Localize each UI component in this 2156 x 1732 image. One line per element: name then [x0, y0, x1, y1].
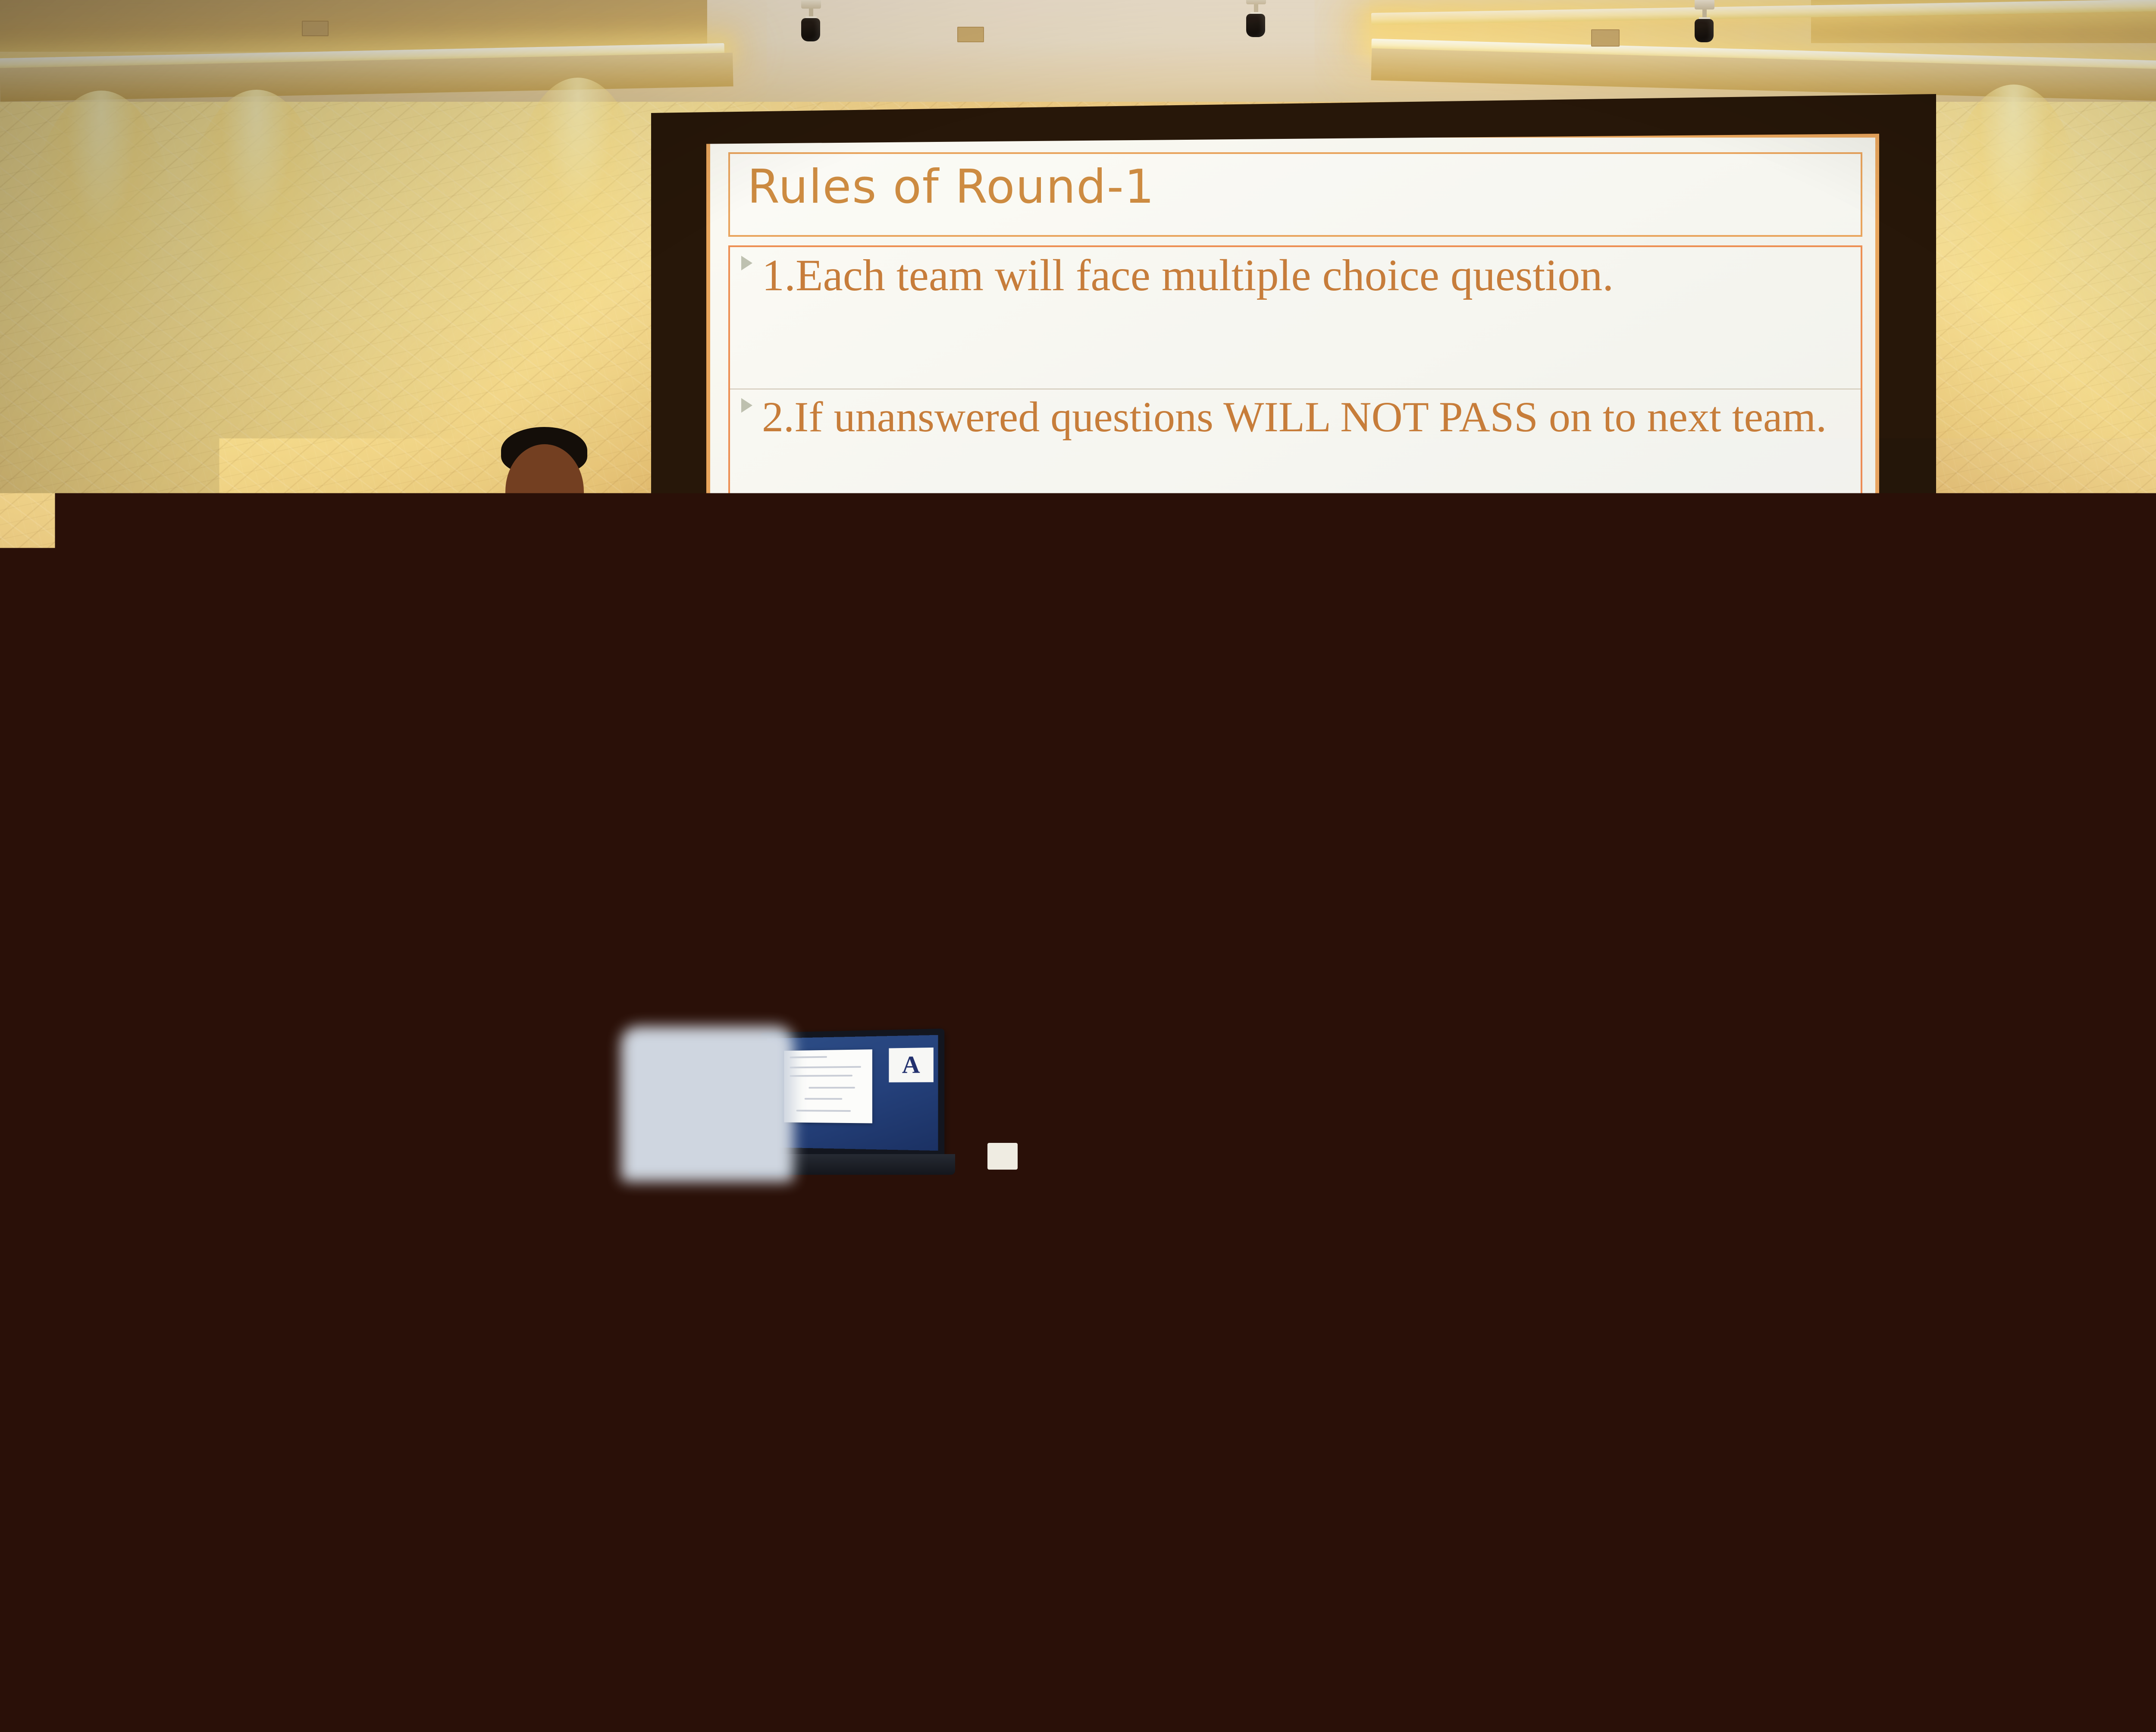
desk-item	[987, 1143, 1018, 1170]
podium-plank-line	[655, 1346, 1945, 1347]
torso	[621, 1026, 793, 1182]
wall-downlight-glow	[513, 78, 642, 319]
slide-bullet-row: 2.If unanswered questions WILL NOT PASS …	[730, 389, 1861, 519]
shoe	[2091, 1147, 2156, 1174]
presenter-smile	[544, 510, 572, 518]
projector-foot	[1146, 1169, 1165, 1192]
bullet-triangle-icon	[741, 398, 752, 413]
projector-vent	[1160, 1120, 1169, 1129]
torso	[2134, 1583, 2156, 1732]
slide-bullet-row: 1.Each team will face multiple choice qu…	[730, 247, 1861, 389]
projector-lens-icon	[1178, 1143, 1194, 1156]
head	[2083, 630, 2156, 725]
projector-label	[1191, 1119, 1269, 1134]
bullet-triangle-icon	[741, 527, 752, 542]
presenter-belt	[452, 736, 624, 749]
wall-downlight-glow	[30, 91, 172, 367]
presenter-moustache	[540, 498, 575, 506]
slide-body-box: 1.Each team will face multiple choice qu…	[728, 245, 1862, 737]
bullet-triangle-icon	[741, 657, 752, 671]
auditorium-scene: Rules of Round-1 1.Each team will face m…	[0, 0, 2156, 1732]
podium-seam	[1326, 1187, 1327, 1661]
slide-title: Rules of Round-1	[730, 154, 1861, 220]
podium-desk	[655, 1187, 1945, 1661]
ceiling-vent	[957, 27, 984, 42]
slide-bullet-row: 3.Each question will have 10 POINTS.	[730, 519, 1861, 648]
projector[interactable]	[1119, 1100, 1300, 1182]
slide-bullet-text: 2.If unanswered questions WILL NOT PASS …	[762, 392, 1849, 442]
podium-plank-line	[655, 1437, 1945, 1438]
audio-mixer[interactable]	[1311, 1130, 1604, 1177]
slide-bullet-text: 1.Each team will face multiple choice qu…	[762, 250, 1849, 302]
slide-corner-band	[710, 968, 1253, 979]
projector-vent	[1143, 1120, 1153, 1131]
presentation-slide: Rules of Round-1 1.Each team will face m…	[706, 134, 1879, 983]
spotlight-fixture	[1246, 0, 1266, 19]
wall-downlight-glow	[185, 90, 328, 366]
stage-side-panel	[1944, 1167, 2039, 1443]
slide-title-box: Rules of Round-1	[728, 152, 1862, 237]
spotlight-fixture	[801, 0, 821, 23]
slide-bullet-text: 3.Each question will have 10 POINTS.	[762, 521, 1849, 572]
mixer-knob[interactable]	[1453, 1137, 1470, 1154]
chair-slat-highlight	[319, 1673, 388, 1685]
audience-member-right	[2044, 595, 2156, 1177]
bullet-triangle-icon	[741, 256, 752, 270]
document-text-line	[805, 1098, 842, 1100]
desk-item	[1613, 1151, 1699, 1165]
ceiling-vent	[1591, 29, 1620, 47]
podium-plank-line	[655, 1260, 1945, 1261]
attendee-foreground	[621, 1001, 802, 1182]
app-icon-glyph: A	[902, 1053, 920, 1078]
slide-bullet-text: 4.Answer time is 10 seconds.	[762, 651, 1849, 701]
presenter-head	[505, 444, 584, 539]
chair-slat-highlight	[190, 1673, 259, 1685]
hair	[9, 1065, 285, 1384]
attendee-foreground-right	[2134, 1203, 2156, 1732]
wall-downlight-glow	[1945, 85, 2083, 352]
document-text-line	[808, 1087, 855, 1089]
mixer-knob[interactable]	[1419, 1139, 1433, 1154]
ceiling-vent	[302, 21, 329, 36]
slide-bullet-row: 4.Answer time is 10 seconds.	[730, 648, 1861, 730]
projector-vent	[1176, 1120, 1185, 1129]
document-text-line	[796, 1110, 851, 1112]
chair-silhouette-foreground	[78, 1535, 604, 1732]
lapel-mic-icon	[567, 543, 579, 559]
spotlight-fixture	[1695, 0, 1714, 24]
app-icon[interactable]: A	[889, 1048, 933, 1082]
podium-plank-line	[655, 1532, 1945, 1533]
leg	[2100, 996, 2156, 1169]
